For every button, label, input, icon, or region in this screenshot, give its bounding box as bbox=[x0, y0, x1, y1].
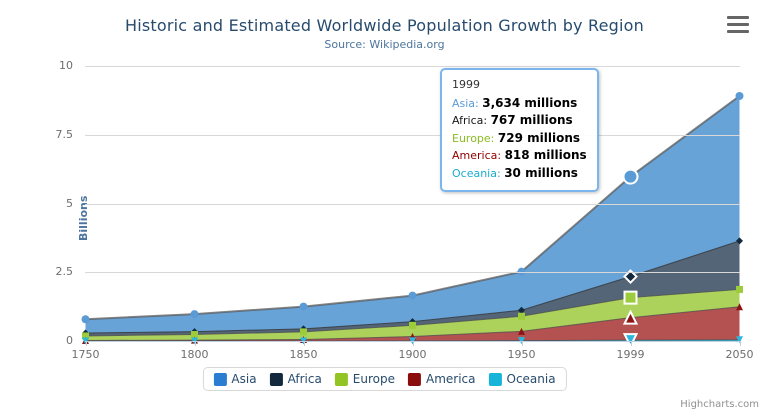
tooltip-header: 1999 bbox=[452, 77, 587, 93]
legend-item-africa[interactable]: Africa bbox=[270, 372, 322, 386]
point-marker-europe[interactable] bbox=[300, 328, 307, 335]
legend-swatch-icon bbox=[270, 373, 283, 386]
y-axis-tick-label: 5 bbox=[13, 197, 73, 210]
chart-title: Historic and Estimated Worldwide Populat… bbox=[0, 16, 769, 35]
tooltip-series-name: Africa: bbox=[452, 114, 491, 127]
x-axis-tick-label: 1950 bbox=[492, 348, 552, 361]
tooltip-series-value: 729 millions bbox=[498, 131, 580, 145]
legend-item-europe[interactable]: Europe bbox=[335, 372, 395, 386]
point-marker-asia[interactable] bbox=[624, 170, 638, 184]
x-axis-tick-label: 1800 bbox=[165, 348, 225, 361]
tooltip-row: Oceania: 30 millions bbox=[452, 165, 587, 182]
x-axis-tick-label: 2050 bbox=[710, 348, 769, 361]
x-axis-tick-label: 1750 bbox=[56, 348, 116, 361]
tooltip-series-name: Europe: bbox=[452, 132, 498, 145]
point-marker-asia[interactable] bbox=[736, 92, 744, 100]
tooltip-row: Europe: 729 millions bbox=[452, 130, 587, 147]
legend-swatch-icon bbox=[408, 373, 421, 386]
x-axis-tick bbox=[86, 341, 87, 346]
x-axis-tick-label: 1900 bbox=[383, 348, 443, 361]
legend-item-label: Oceania bbox=[507, 372, 556, 386]
point-marker-europe[interactable] bbox=[409, 322, 416, 329]
tooltip: 1999 Asia: 3,634 millionsAfrica: 767 mil… bbox=[440, 68, 599, 192]
legend-item-label: America bbox=[426, 372, 476, 386]
y-gridline bbox=[85, 204, 740, 205]
x-axis-tick bbox=[740, 341, 741, 346]
point-marker-asia[interactable] bbox=[82, 315, 90, 323]
x-axis-tick-label: 1999 bbox=[601, 348, 661, 361]
legend-swatch-icon bbox=[489, 373, 502, 386]
tooltip-series-value: 3,634 millions bbox=[482, 96, 577, 110]
point-marker-europe[interactable] bbox=[736, 286, 743, 293]
tooltip-series-name: Oceania: bbox=[452, 167, 504, 180]
credits-link[interactable]: Highcharts.com bbox=[680, 399, 759, 410]
legend-item-asia[interactable]: Asia bbox=[213, 372, 256, 386]
tooltip-series-value: 818 millions bbox=[505, 148, 587, 162]
legend-item-label: Asia bbox=[231, 372, 256, 386]
y-axis-tick-label: 7.5 bbox=[13, 128, 73, 141]
tooltip-series-value: 30 millions bbox=[504, 166, 578, 180]
point-marker-europe[interactable] bbox=[518, 313, 525, 320]
point-marker-asia[interactable] bbox=[191, 310, 199, 318]
point-marker-europe[interactable] bbox=[625, 292, 637, 304]
legend-item-america[interactable]: America bbox=[408, 372, 476, 386]
legend-item-label: Africa bbox=[288, 372, 322, 386]
highcharts-container: Historic and Estimated Worldwide Populat… bbox=[0, 0, 769, 416]
chart-legend[interactable]: Asia Africa Europe America Oceania bbox=[202, 367, 566, 391]
x-axis-tick bbox=[631, 341, 632, 346]
tooltip-row: America: 818 millions bbox=[452, 147, 587, 164]
x-axis-tick bbox=[413, 341, 414, 346]
x-axis-tick-label: 1850 bbox=[274, 348, 334, 361]
point-marker-asia[interactable] bbox=[409, 292, 417, 300]
legend-item-label: Europe bbox=[353, 372, 395, 386]
legend-swatch-icon bbox=[213, 373, 226, 386]
y-axis-tick-label: 0 bbox=[13, 334, 73, 347]
x-axis-tick bbox=[522, 341, 523, 346]
y-axis-tick-label: 2.5 bbox=[13, 265, 73, 278]
y-gridline bbox=[85, 135, 740, 136]
point-marker-asia[interactable] bbox=[300, 303, 308, 311]
x-axis-tick bbox=[304, 341, 305, 346]
tooltip-series-name: America: bbox=[452, 149, 505, 162]
legend-item-oceania[interactable]: Oceania bbox=[489, 372, 556, 386]
tooltip-row: Africa: 767 millions bbox=[452, 112, 587, 129]
hamburger-menu-icon[interactable] bbox=[727, 16, 751, 36]
y-gridline bbox=[85, 272, 740, 273]
y-gridline bbox=[85, 66, 740, 67]
tooltip-row: Asia: 3,634 millions bbox=[452, 95, 587, 112]
chart-subtitle: Source: Wikipedia.org bbox=[0, 38, 769, 51]
x-axis-tick bbox=[195, 341, 196, 346]
tooltip-series-value: 767 millions bbox=[491, 113, 573, 127]
legend-swatch-icon bbox=[335, 373, 348, 386]
y-axis-tick-label: 10 bbox=[13, 59, 73, 72]
tooltip-series-name: Asia: bbox=[452, 97, 482, 110]
